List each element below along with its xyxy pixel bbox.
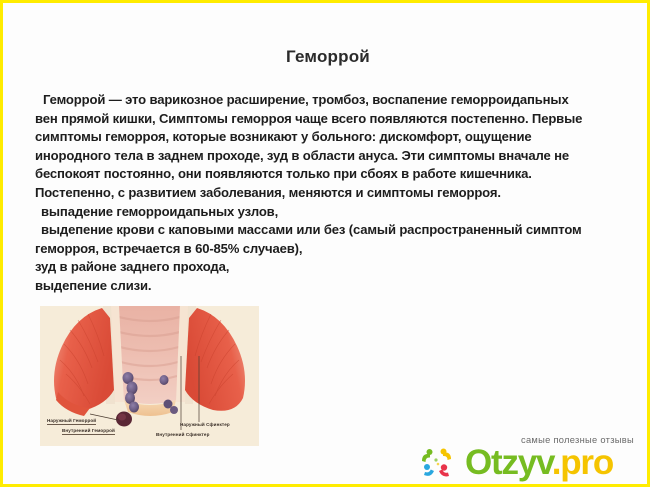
article-body: Геморрой — это варикозное расширение, тр… [35,91,633,296]
symptom-line: выпадение геморроидапьных узлов, [35,203,633,222]
slide-page: Геморрой Геморрой — это варикозное расши… [0,0,650,487]
logo-word-primary: Otzyv [465,443,552,482]
logo-wordmark: Otzyv.pro [465,444,613,482]
symptom-line: выдепение слизи. [35,277,633,296]
article-line: инородного тела в заднем проходе, зуд в … [35,147,633,166]
page-title: Геморрой [3,47,650,67]
article-line: вен прямой кишки, Симптомы геморроя чаще… [35,110,633,129]
people-pinwheel-icon [418,445,458,479]
figure-label-external-sphincter: Наружный Сфинктер [180,422,230,428]
article-line: Геморрой — это варикозное расширение, тр… [35,91,633,110]
symptom-line: геморроя, встречается в 60-85% случаев), [35,240,633,259]
figure-label-external-hemorrhoid: Наружный Геморрой [47,418,96,425]
figure-label-internal-hemorrhoid: Внутренний Геморрой [62,428,115,435]
site-logo[interactable]: самые полезные отзывы Otzyv.pro [418,435,643,485]
article-line: симптомы геморроя, которые возникают у б… [35,128,633,147]
logo-word-secondary: .pro [552,443,613,482]
hemorrhoid-anatomy-figure: Наружный Геморрой Внутренний Геморрой На… [40,306,259,446]
symptom-line: зуд в районе заднего прохода, [35,258,633,277]
symptom-line: выдепение крови с каповыми массами или б… [35,221,633,240]
article-line: Постепенно, с развитием заболевания, мен… [35,184,633,203]
figure-label-internal-sphincter: Внутренний Сфинктер [156,432,209,438]
article-line: беспокоят постоянно, они появляются толь… [35,165,633,184]
